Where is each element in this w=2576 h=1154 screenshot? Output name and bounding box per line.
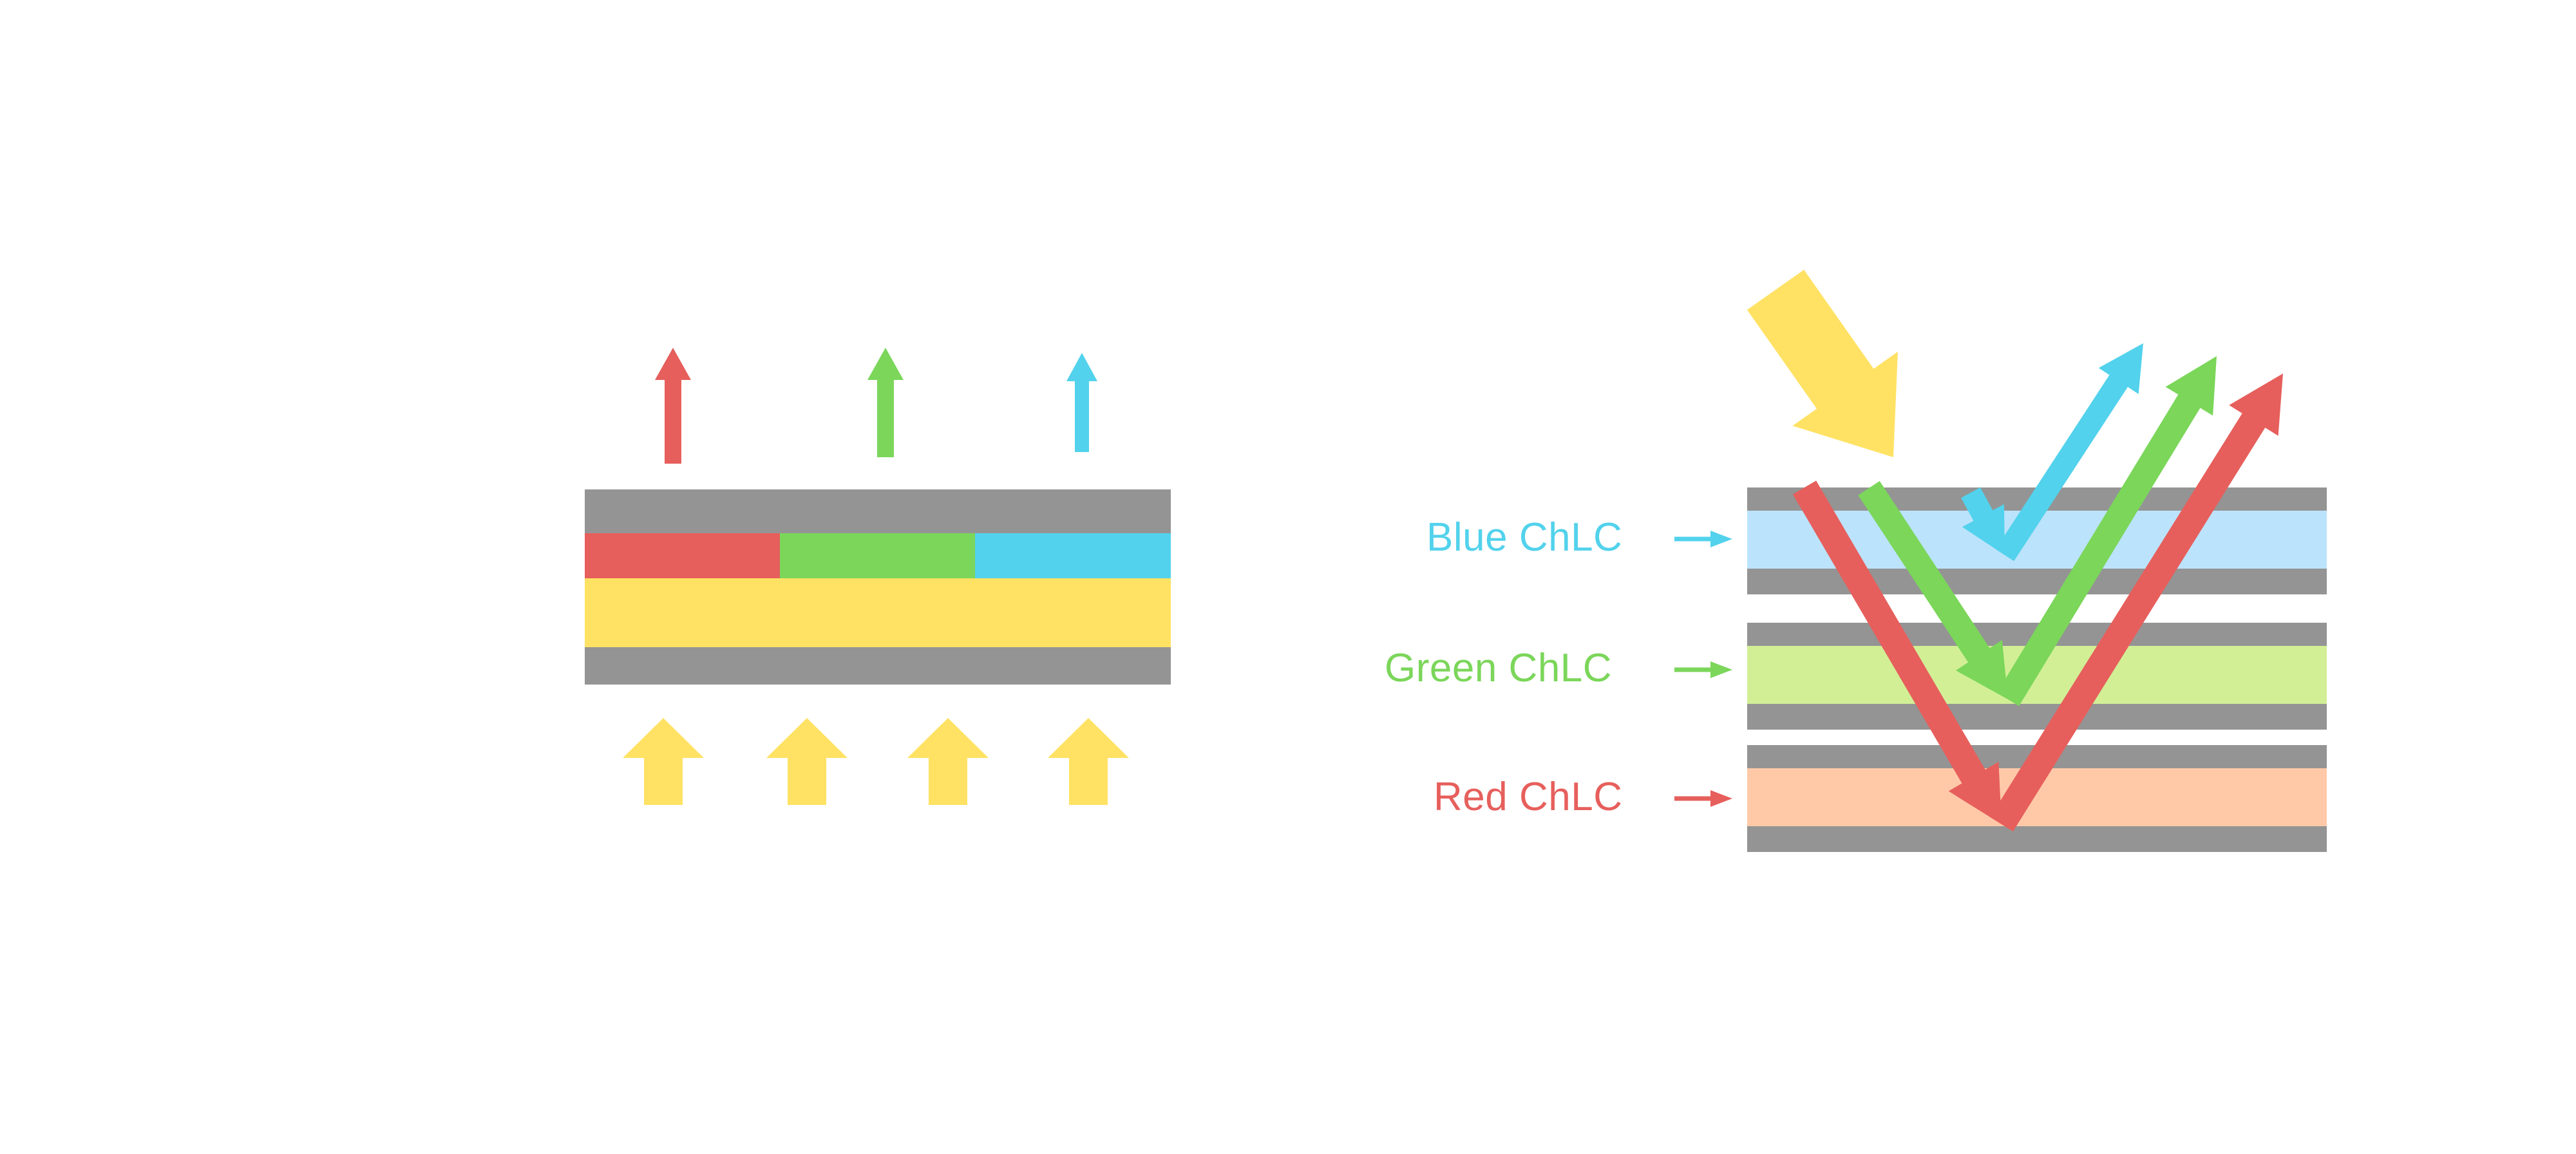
- left-stack-layer-group: [585, 489, 1171, 685]
- bottom-electrode-layer: [585, 647, 1171, 685]
- green-chlc-cell-label-text: Green ChLC: [1385, 646, 1612, 690]
- blue-chlc-cell-bottom-electrode: [1747, 569, 2327, 594]
- blue-chlc-cell-label-text: Blue ChLC: [1426, 515, 1622, 560]
- blue-filter-segment: [975, 533, 1171, 578]
- diagram-canvas: Blue ChLCGreen ChLCRed ChLC: [0, 0, 2576, 1154]
- red-chlc-cell-bottom-electrode: [1747, 826, 2327, 852]
- red-chlc-cell-label-text: Red ChLC: [1434, 775, 1622, 819]
- green-chlc-cell-bottom-electrode: [1747, 704, 2327, 730]
- color-filter-layer: [585, 533, 1171, 578]
- top-electrode-layer: [585, 489, 1171, 533]
- backlight-emitter-layer: [585, 578, 1171, 647]
- figure-root: Blue ChLCGreen ChLCRed ChLC: [0, 0, 2576, 1154]
- green-filter-segment: [780, 533, 975, 578]
- red-filter-segment: [585, 533, 780, 578]
